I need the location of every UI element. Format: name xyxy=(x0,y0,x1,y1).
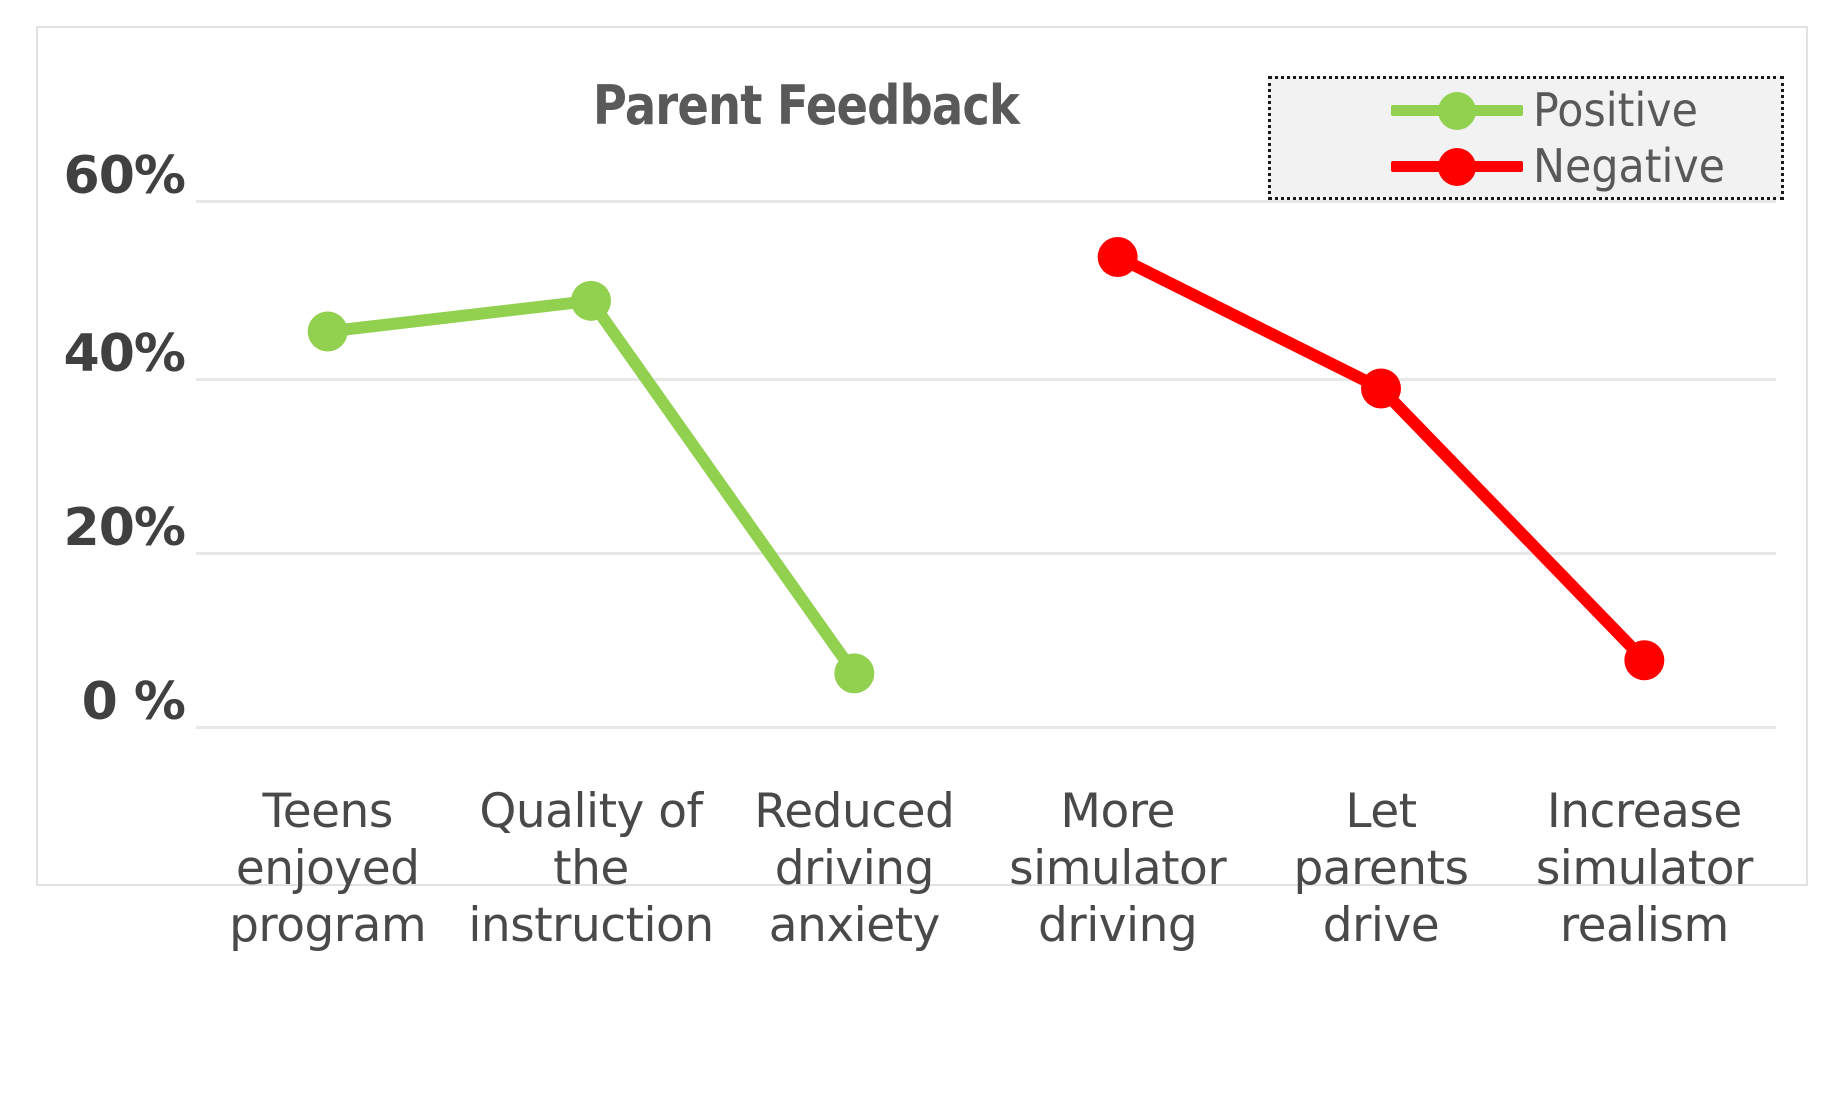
x-axis-label-3: More simulator driving xyxy=(986,784,1249,974)
legend-item-positive[interactable]: Positive xyxy=(1271,81,1781,139)
data-point-positive-0[interactable] xyxy=(308,312,348,352)
data-point-positive-2[interactable] xyxy=(834,653,874,693)
data-point-negative-0[interactable] xyxy=(1098,237,1138,277)
x-axis-label-1: Quality of the instruction xyxy=(459,784,722,974)
legend-marker-negative-icon xyxy=(1391,146,1523,186)
data-point-negative-1[interactable] xyxy=(1361,368,1401,408)
chart-title: Parent Feedback xyxy=(593,74,997,137)
x-axis-label-4: Let parents drive xyxy=(1249,784,1512,974)
x-axis-label-5: Increase simulator realism xyxy=(1513,784,1776,974)
data-series-layer xyxy=(196,190,1776,738)
legend-item-negative[interactable]: Negative xyxy=(1271,137,1781,195)
data-point-negative-2[interactable] xyxy=(1624,640,1664,680)
chart-legend[interactable]: Positive Negative xyxy=(1268,76,1784,200)
y-tick-label-40: 40% xyxy=(0,324,185,384)
series-positive xyxy=(308,281,875,694)
x-axis-labels: Teens enjoyed program Quality of the ins… xyxy=(196,784,1776,974)
y-tick-label-20: 20% xyxy=(0,498,185,558)
y-tick-label-0: 0 % xyxy=(0,672,185,732)
series-line-negative xyxy=(1118,257,1645,660)
series-negative xyxy=(1098,237,1665,680)
legend-marker-positive-icon xyxy=(1391,90,1523,130)
x-axis-label-0: Teens enjoyed program xyxy=(196,784,459,974)
series-line-positive xyxy=(328,301,855,674)
data-point-positive-1[interactable] xyxy=(571,281,611,321)
x-axis-label-2: Reduced driving anxiety xyxy=(723,784,986,974)
legend-label-negative: Negative xyxy=(1533,143,1725,189)
legend-label-positive: Positive xyxy=(1533,87,1698,133)
chart-container: 60% 40% 20% 0 % Parent Feedback Positive… xyxy=(0,0,1845,1097)
y-tick-label-60: 60% xyxy=(0,146,185,206)
